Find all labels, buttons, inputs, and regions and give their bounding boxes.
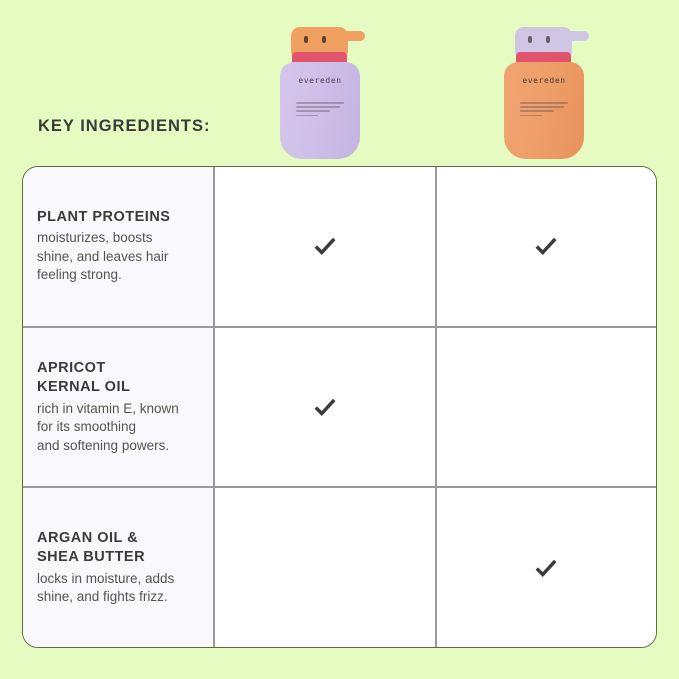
bottle-label-microtext-left [296,102,344,124]
cap-eye-right-icon [546,36,550,43]
table-row: APRICOT KERNAL OIL rich in vitamin E, kn… [23,328,656,489]
product-2-cell [437,167,657,326]
pump-cap [291,27,348,55]
brand-label-right: evereden [498,76,590,85]
ingredient-cell: ARGAN OIL & SHEA BUTTER locks in moistur… [23,488,215,647]
page-title: KEY INGREDIENTS: [38,117,210,136]
ingredient-cell: PLANT PROTEINS moisturizes, boosts shine… [23,167,215,326]
cap-eye-left-icon [304,36,308,43]
check-mark-icon [533,233,559,259]
ingredient-description: rich in vitamin E, known for its smoothi… [37,400,199,455]
ingredient-title: APRICOT KERNAL OIL [37,359,199,398]
pump-cap [515,27,572,55]
ingredient-description: moisturizes, boosts shine, and leaves ha… [37,229,199,284]
cap-eye-left-icon [528,36,532,43]
check-mark-icon [533,555,559,581]
ingredient-cell: APRICOT KERNAL OIL rich in vitamin E, kn… [23,328,215,487]
product-1-cell [215,328,437,487]
brand-label-left: evereden [274,76,366,85]
table-row: PLANT PROTEINS moisturizes, boosts shine… [23,167,656,328]
check-mark-icon [312,394,338,420]
product-2-cell [437,488,657,647]
ingredient-title: PLANT PROTEINS [37,208,199,228]
ingredient-title: ARGAN OIL & SHEA BUTTER [37,529,199,568]
bottle-label-microtext-right [520,102,568,124]
ingredients-comparison-table: PLANT PROTEINS moisturizes, boosts shine… [22,166,657,648]
ingredient-description: locks in moisture, adds shine, and fight… [37,570,199,607]
product-2-cell [437,328,657,487]
check-mark-icon [312,233,338,259]
cap-eye-right-icon [322,36,326,43]
product-1-cell [215,488,437,647]
product-bottle-right: evereden [498,14,590,159]
table-row: ARGAN OIL & SHEA BUTTER locks in moistur… [23,488,656,647]
product-bottle-left: evereden [274,14,366,159]
product-1-cell [215,167,437,326]
product-images: evereden evereden [0,0,679,160]
